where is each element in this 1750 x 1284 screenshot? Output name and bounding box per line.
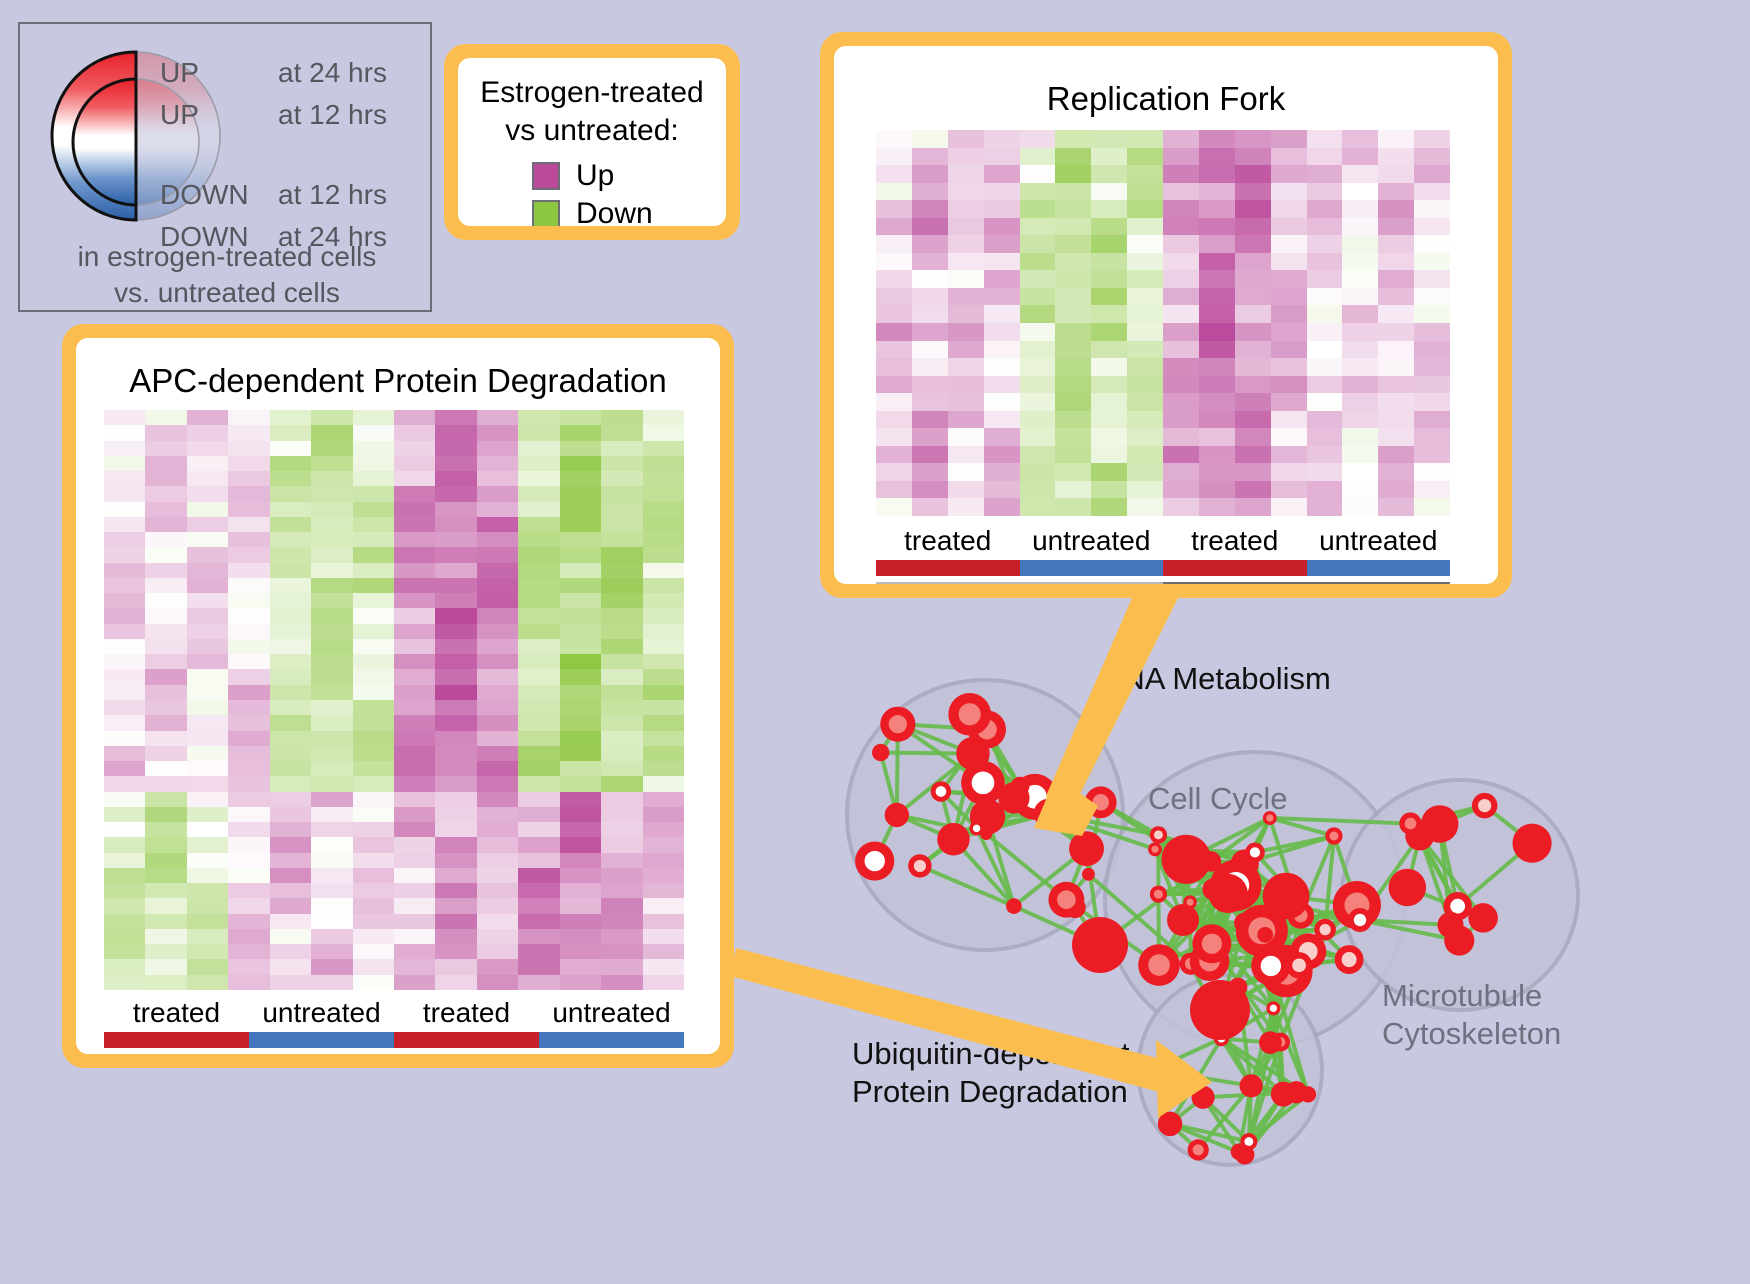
network-node xyxy=(1167,904,1199,936)
figure-canvas: UP at 24 hrs UP at 12 hrs DOWN at 12 hrs… xyxy=(0,0,1750,1279)
network-node xyxy=(1034,799,1064,829)
treatment-bar-segment xyxy=(1020,560,1164,576)
timepoint-colour-bar xyxy=(876,582,1450,584)
treatment-bar-segment xyxy=(104,1032,249,1048)
network-node xyxy=(948,693,991,736)
label-ubiquitin-degradation: Ubiquitin-dependent Protein Degradation xyxy=(852,1035,1130,1111)
wheel-value: at 12 hrs xyxy=(278,101,387,129)
wheel-row: DOWN at 12 hrs xyxy=(160,174,430,216)
network-node xyxy=(1300,1086,1316,1102)
treatment-labels: treated untreated treated untreated xyxy=(104,996,684,1030)
network-node xyxy=(1072,917,1128,973)
treatment-labels: treated untreated treated untreated xyxy=(876,524,1450,558)
apc-degradation-panel: APC-dependent Protein Degradation treate… xyxy=(62,324,734,1068)
network-node xyxy=(1399,812,1421,834)
apc-degradation-body: APC-dependent Protein Degradation treate… xyxy=(76,338,720,1054)
up-label: Up xyxy=(576,160,614,192)
network-node xyxy=(969,821,983,835)
network-node xyxy=(1421,805,1459,843)
network-svg xyxy=(800,620,1750,1279)
network-node xyxy=(1389,869,1426,906)
treatment-colour-bar xyxy=(876,560,1450,576)
network-node xyxy=(1325,827,1342,844)
network-node xyxy=(1150,886,1167,903)
timepoint-bar-segment xyxy=(1163,582,1450,584)
up-down-legend-card: Estrogen-treated vs untreated: Up Down xyxy=(444,44,740,240)
treatment-label: untreated xyxy=(1020,524,1164,558)
treatment-bar-segment xyxy=(1163,560,1307,576)
up-down-legend-title: Estrogen-treated vs untreated: xyxy=(458,74,726,150)
treatment-label: treated xyxy=(876,524,1020,558)
network-node xyxy=(1082,868,1095,881)
colour-wheel-rows: UP at 24 hrs UP at 12 hrs DOWN at 12 hrs… xyxy=(160,52,430,258)
pathway-network-diagram: DNA Metabolism Cell Cycle Microtubule Cy… xyxy=(800,620,1750,1279)
network-node xyxy=(1006,898,1022,914)
network-node xyxy=(1069,831,1104,866)
timepoint-bar-segment xyxy=(876,582,1163,584)
network-node xyxy=(1257,927,1273,943)
legend-item-up: Up xyxy=(532,160,614,192)
network-node xyxy=(1263,873,1310,920)
treatment-label: untreated xyxy=(1307,524,1451,558)
microtubule-line-2: Cytoskeleton xyxy=(1382,1015,1561,1053)
legend-title-line-2: vs untreated: xyxy=(458,112,726,150)
network-node xyxy=(956,737,989,770)
treatment-label: treated xyxy=(104,996,249,1030)
caption-line-2: vs. untreated cells xyxy=(20,275,434,311)
legend-title-line-1: Estrogen-treated xyxy=(458,74,726,112)
replication-fork-title: Replication Fork xyxy=(834,80,1498,118)
network-node xyxy=(1048,882,1084,918)
network-node xyxy=(1192,924,1231,963)
legend-item-down: Down xyxy=(532,198,653,226)
replication-fork-heatmap xyxy=(876,130,1450,516)
network-node xyxy=(1259,1031,1282,1054)
network-node xyxy=(1158,1112,1183,1137)
network-node xyxy=(1468,903,1498,933)
network-node xyxy=(908,854,931,877)
apc-column-annotations: treated untreated treated untreated 12 h… xyxy=(104,996,684,1054)
network-node xyxy=(1208,874,1247,913)
network-node xyxy=(855,842,894,881)
treatment-label: untreated xyxy=(249,996,394,1030)
network-node xyxy=(885,803,909,827)
network-node xyxy=(937,823,969,855)
network-node xyxy=(1437,912,1463,938)
treatment-label: treated xyxy=(394,996,539,1030)
up-down-legend-body: Estrogen-treated vs untreated: Up Down xyxy=(458,58,726,226)
network-node xyxy=(1472,793,1498,819)
down-label: Down xyxy=(576,198,653,226)
network-node xyxy=(1192,1086,1215,1109)
ubiquitin-line-1: Ubiquitin-dependent xyxy=(852,1035,1130,1073)
network-node xyxy=(1348,908,1372,932)
network-node xyxy=(1245,843,1265,863)
network-node xyxy=(1335,945,1364,974)
wheel-key: DOWN xyxy=(160,181,278,209)
network-node xyxy=(1240,1074,1263,1097)
treatment-bar-segment xyxy=(1307,560,1451,576)
wheel-row: UP at 24 hrs xyxy=(160,52,430,94)
wheel-value: at 24 hrs xyxy=(278,59,387,87)
network-node xyxy=(1190,980,1250,1040)
network-node xyxy=(1145,1062,1161,1078)
wheel-key: UP xyxy=(160,101,278,129)
treatment-bar-segment xyxy=(876,560,1020,576)
label-dna-metabolism: DNA Metabolism xyxy=(1100,660,1331,698)
caption-line-1: in estrogen-treated cells xyxy=(20,239,434,275)
treatment-bar-segment xyxy=(249,1032,394,1048)
treatment-bar-segment xyxy=(539,1032,684,1048)
wheel-key: UP xyxy=(160,59,278,87)
network-node xyxy=(1148,842,1162,856)
network-node xyxy=(1251,946,1290,985)
label-microtubule-cytoskeleton: Microtubule Cytoskeleton xyxy=(1382,977,1561,1053)
replication-fork-body: Replication Fork treated untreated treat… xyxy=(834,46,1498,584)
network-node xyxy=(1512,824,1551,863)
network-node xyxy=(1188,1139,1209,1160)
apc-degradation-title: APC-dependent Protein Degradation xyxy=(76,362,720,400)
network-node xyxy=(1266,1001,1280,1015)
down-swatch-icon xyxy=(532,200,560,226)
network-node xyxy=(1150,826,1167,843)
replication-fork-panel: Replication Fork treated untreated treat… xyxy=(820,32,1512,598)
colour-wheel-caption: in estrogen-treated cells vs. untreated … xyxy=(20,239,434,311)
network-node xyxy=(880,707,915,742)
treatment-bar-segment xyxy=(394,1032,539,1048)
network-node xyxy=(872,744,889,761)
up-swatch-icon xyxy=(532,162,560,190)
network-node xyxy=(1138,944,1180,986)
colour-wheel-legend: UP at 24 hrs UP at 12 hrs DOWN at 12 hrs… xyxy=(18,22,432,312)
network-node xyxy=(931,781,952,802)
treatment-label: untreated xyxy=(539,996,684,1030)
wheel-value: at 12 hrs xyxy=(278,181,387,209)
network-node xyxy=(1085,786,1117,818)
apc-degradation-heatmap xyxy=(104,410,684,990)
treatment-label: treated xyxy=(1163,524,1307,558)
network-node xyxy=(1235,1145,1254,1164)
wheel-row: UP at 12 hrs xyxy=(160,94,430,136)
microtubule-line-1: Microtubule xyxy=(1382,977,1561,1015)
treatment-colour-bar xyxy=(104,1032,684,1048)
label-cell-cycle: Cell Cycle xyxy=(1148,780,1288,818)
replication-fork-column-annotations: treated untreated treated untreated 12 h… xyxy=(876,524,1450,584)
ubiquitin-line-2: Protein Degradation xyxy=(852,1073,1130,1111)
